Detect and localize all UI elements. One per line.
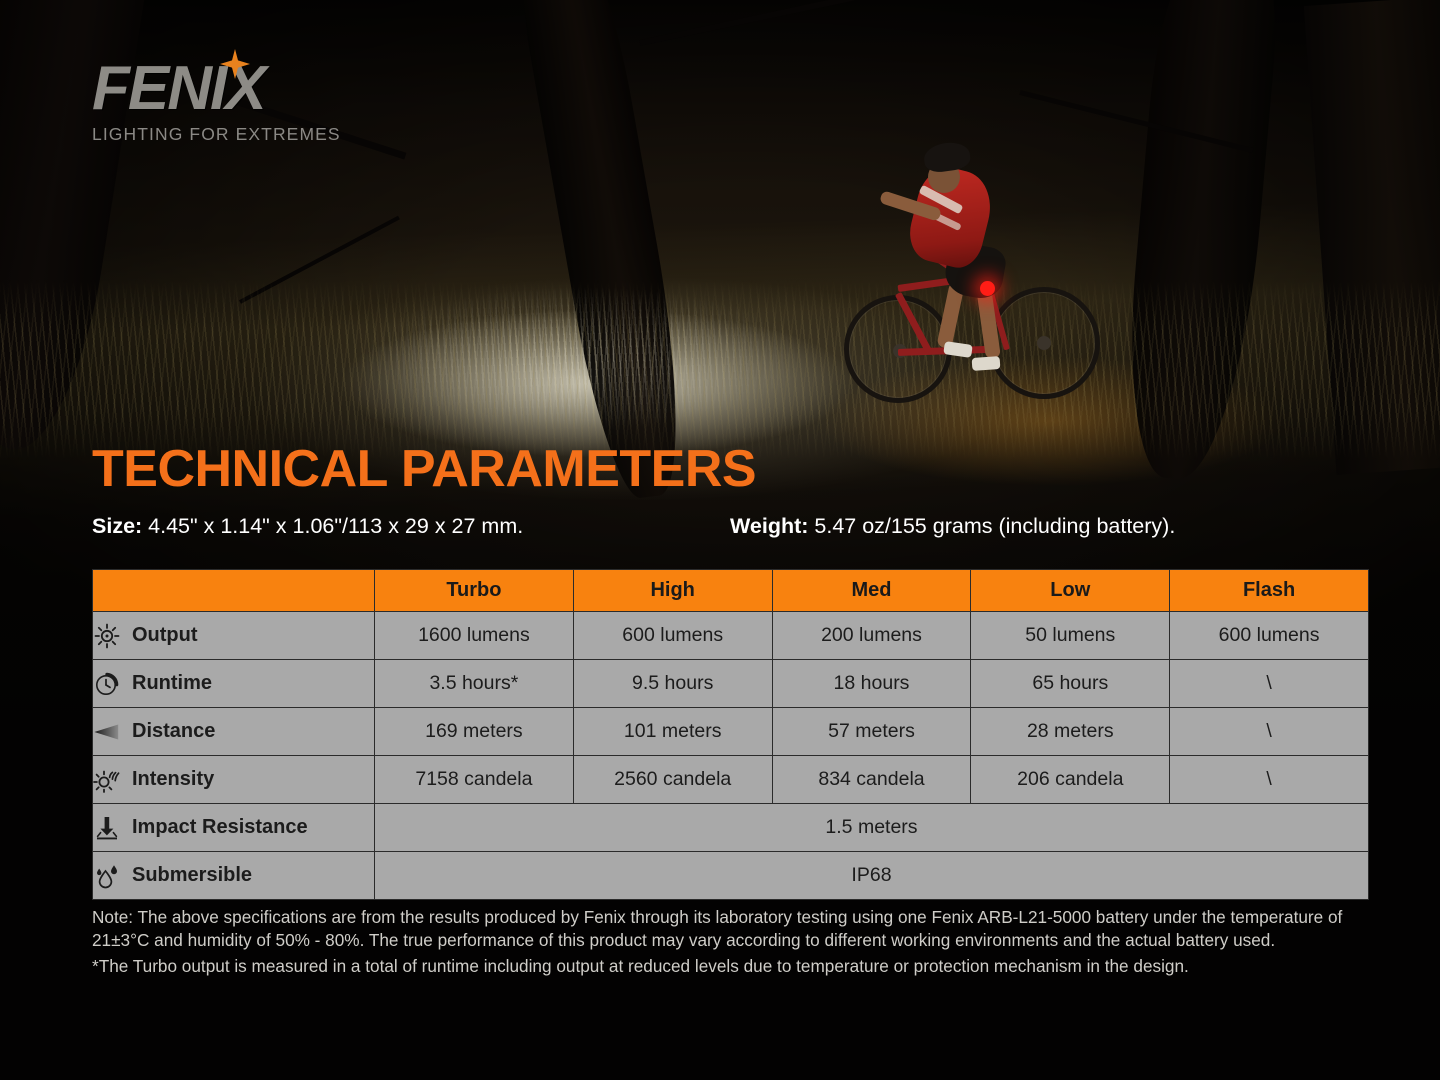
cell-runtime-flash: \ — [1170, 660, 1369, 708]
row-label-text: Output — [132, 624, 198, 647]
row-label-submersible: Submersible — [93, 852, 375, 900]
table-body: Output 1600 lumens 600 lumens 200 lumens… — [93, 612, 1369, 900]
cell-intensity-med: 834 candela — [772, 756, 971, 804]
cell-intensity-flash: \ — [1170, 756, 1369, 804]
technical-parameters-table: Turbo High Med Low Flash — [92, 569, 1369, 900]
row-label-text: Submersible — [132, 864, 252, 887]
cell-runtime-med: 18 hours — [772, 660, 971, 708]
row-label-text: Impact Resistance — [132, 816, 308, 839]
column-header-med: Med — [772, 570, 971, 612]
cell-runtime-high: 9.5 hours — [573, 660, 772, 708]
size-label: Size: — [92, 514, 142, 538]
cell-runtime-turbo: 3.5 hours* — [375, 660, 574, 708]
weight-value: 5.47 oz/155 grams (including battery). — [808, 514, 1175, 538]
weight-label: Weight: — [730, 514, 808, 538]
page-title: TECHNICAL PARAMETERS — [92, 442, 756, 497]
water-drop-icon — [93, 862, 121, 890]
cell-output-turbo: 1600 lumens — [375, 612, 574, 660]
row-label-text: Distance — [132, 720, 215, 743]
cell-distance-high: 101 meters — [573, 708, 772, 756]
row-label-text: Intensity — [132, 768, 214, 791]
grass-field-lit — [330, 270, 890, 440]
cell-distance-turbo: 169 meters — [375, 708, 574, 756]
cell-output-flash: 600 lumens — [1170, 612, 1369, 660]
cell-submersible-value: IP68 — [375, 852, 1369, 900]
cyclist-shoe — [972, 356, 1001, 371]
row-label-runtime: Runtime — [93, 660, 375, 708]
wheel-hub — [1037, 336, 1051, 350]
row-label-output: Output — [93, 612, 375, 660]
column-header-high: High — [573, 570, 772, 612]
dimension-spec-line: Size: 4.45" x 1.14" x 1.06"/113 x 29 x 2… — [92, 514, 1372, 544]
cell-distance-low: 28 meters — [971, 708, 1170, 756]
brand-tagline: LIGHTING FOR EXTREMES — [92, 124, 341, 145]
column-header-turbo: Turbo — [375, 570, 574, 612]
cell-intensity-low: 206 candela — [971, 756, 1170, 804]
cell-output-high: 600 lumens — [573, 612, 772, 660]
bicycle-taillight — [980, 281, 995, 296]
cell-intensity-high: 2560 candela — [573, 756, 772, 804]
weight-spec: Weight: 5.47 oz/155 grams (including bat… — [730, 514, 1175, 539]
column-header-flash: Flash — [1170, 570, 1369, 612]
size-spec: Size: 4.45" x 1.14" x 1.06"/113 x 29 x 2… — [92, 514, 523, 539]
sun-beam-icon — [93, 766, 121, 794]
row-label-distance: Distance — [93, 708, 375, 756]
table-header-row: Turbo High Med Low Flash — [93, 570, 1369, 612]
table-corner-cell — [93, 570, 375, 612]
note-footnote-text: *The Turbo output is measured in a total… — [92, 955, 1382, 978]
note-section: Note: The above specifications are from … — [92, 906, 1382, 978]
cell-distance-med: 57 meters — [772, 708, 971, 756]
tree-branch — [639, 0, 895, 46]
cell-runtime-low: 65 hours — [971, 660, 1170, 708]
cyclist-helmet — [922, 140, 971, 174]
impact-arrow-icon — [93, 814, 121, 842]
clock-icon — [93, 670, 121, 698]
table-row: Submersible IP68 — [93, 852, 1369, 900]
cell-output-low: 50 lumens — [971, 612, 1170, 660]
cell-intensity-turbo: 7158 candela — [375, 756, 574, 804]
sun-rays-icon — [93, 622, 121, 650]
table-row: Intensity 7158 candela 2560 candela 834 … — [93, 756, 1369, 804]
table-row: Output 1600 lumens 600 lumens 200 lumens… — [93, 612, 1369, 660]
cell-distance-flash: \ — [1170, 708, 1369, 756]
technical-parameters-table-wrapper: Turbo High Med Low Flash — [92, 569, 1368, 900]
row-label-intensity: Intensity — [93, 756, 375, 804]
cell-output-med: 200 lumens — [772, 612, 971, 660]
row-label-text: Runtime — [132, 672, 212, 695]
cell-impact-resistance-value: 1.5 meters — [375, 804, 1369, 852]
row-label-impact-resistance: Impact Resistance — [93, 804, 375, 852]
table-row: Distance 169 meters 101 meters 57 meters… — [93, 708, 1369, 756]
table-row: Impact Resistance 1.5 meters — [93, 804, 1369, 852]
fenix-logo: FENIX LIGHTING FOR EXTREMES — [92, 58, 341, 145]
note-main-text: Note: The above specifications are from … — [92, 906, 1382, 951]
size-value: 4.45" x 1.14" x 1.06"/113 x 29 x 27 mm. — [142, 514, 523, 538]
beam-triangle-icon — [93, 718, 121, 746]
table-row: Runtime 3.5 hours* 9.5 hours 18 hours 65… — [93, 660, 1369, 708]
brand-name: FENIX — [92, 58, 341, 120]
table-header: Turbo High Med Low Flash — [93, 570, 1369, 612]
product-spec-page: FENIX LIGHTING FOR EXTREMES TECHNICAL PA… — [0, 0, 1440, 1080]
column-header-low: Low — [971, 570, 1170, 612]
cyclist-figure — [840, 135, 1140, 430]
